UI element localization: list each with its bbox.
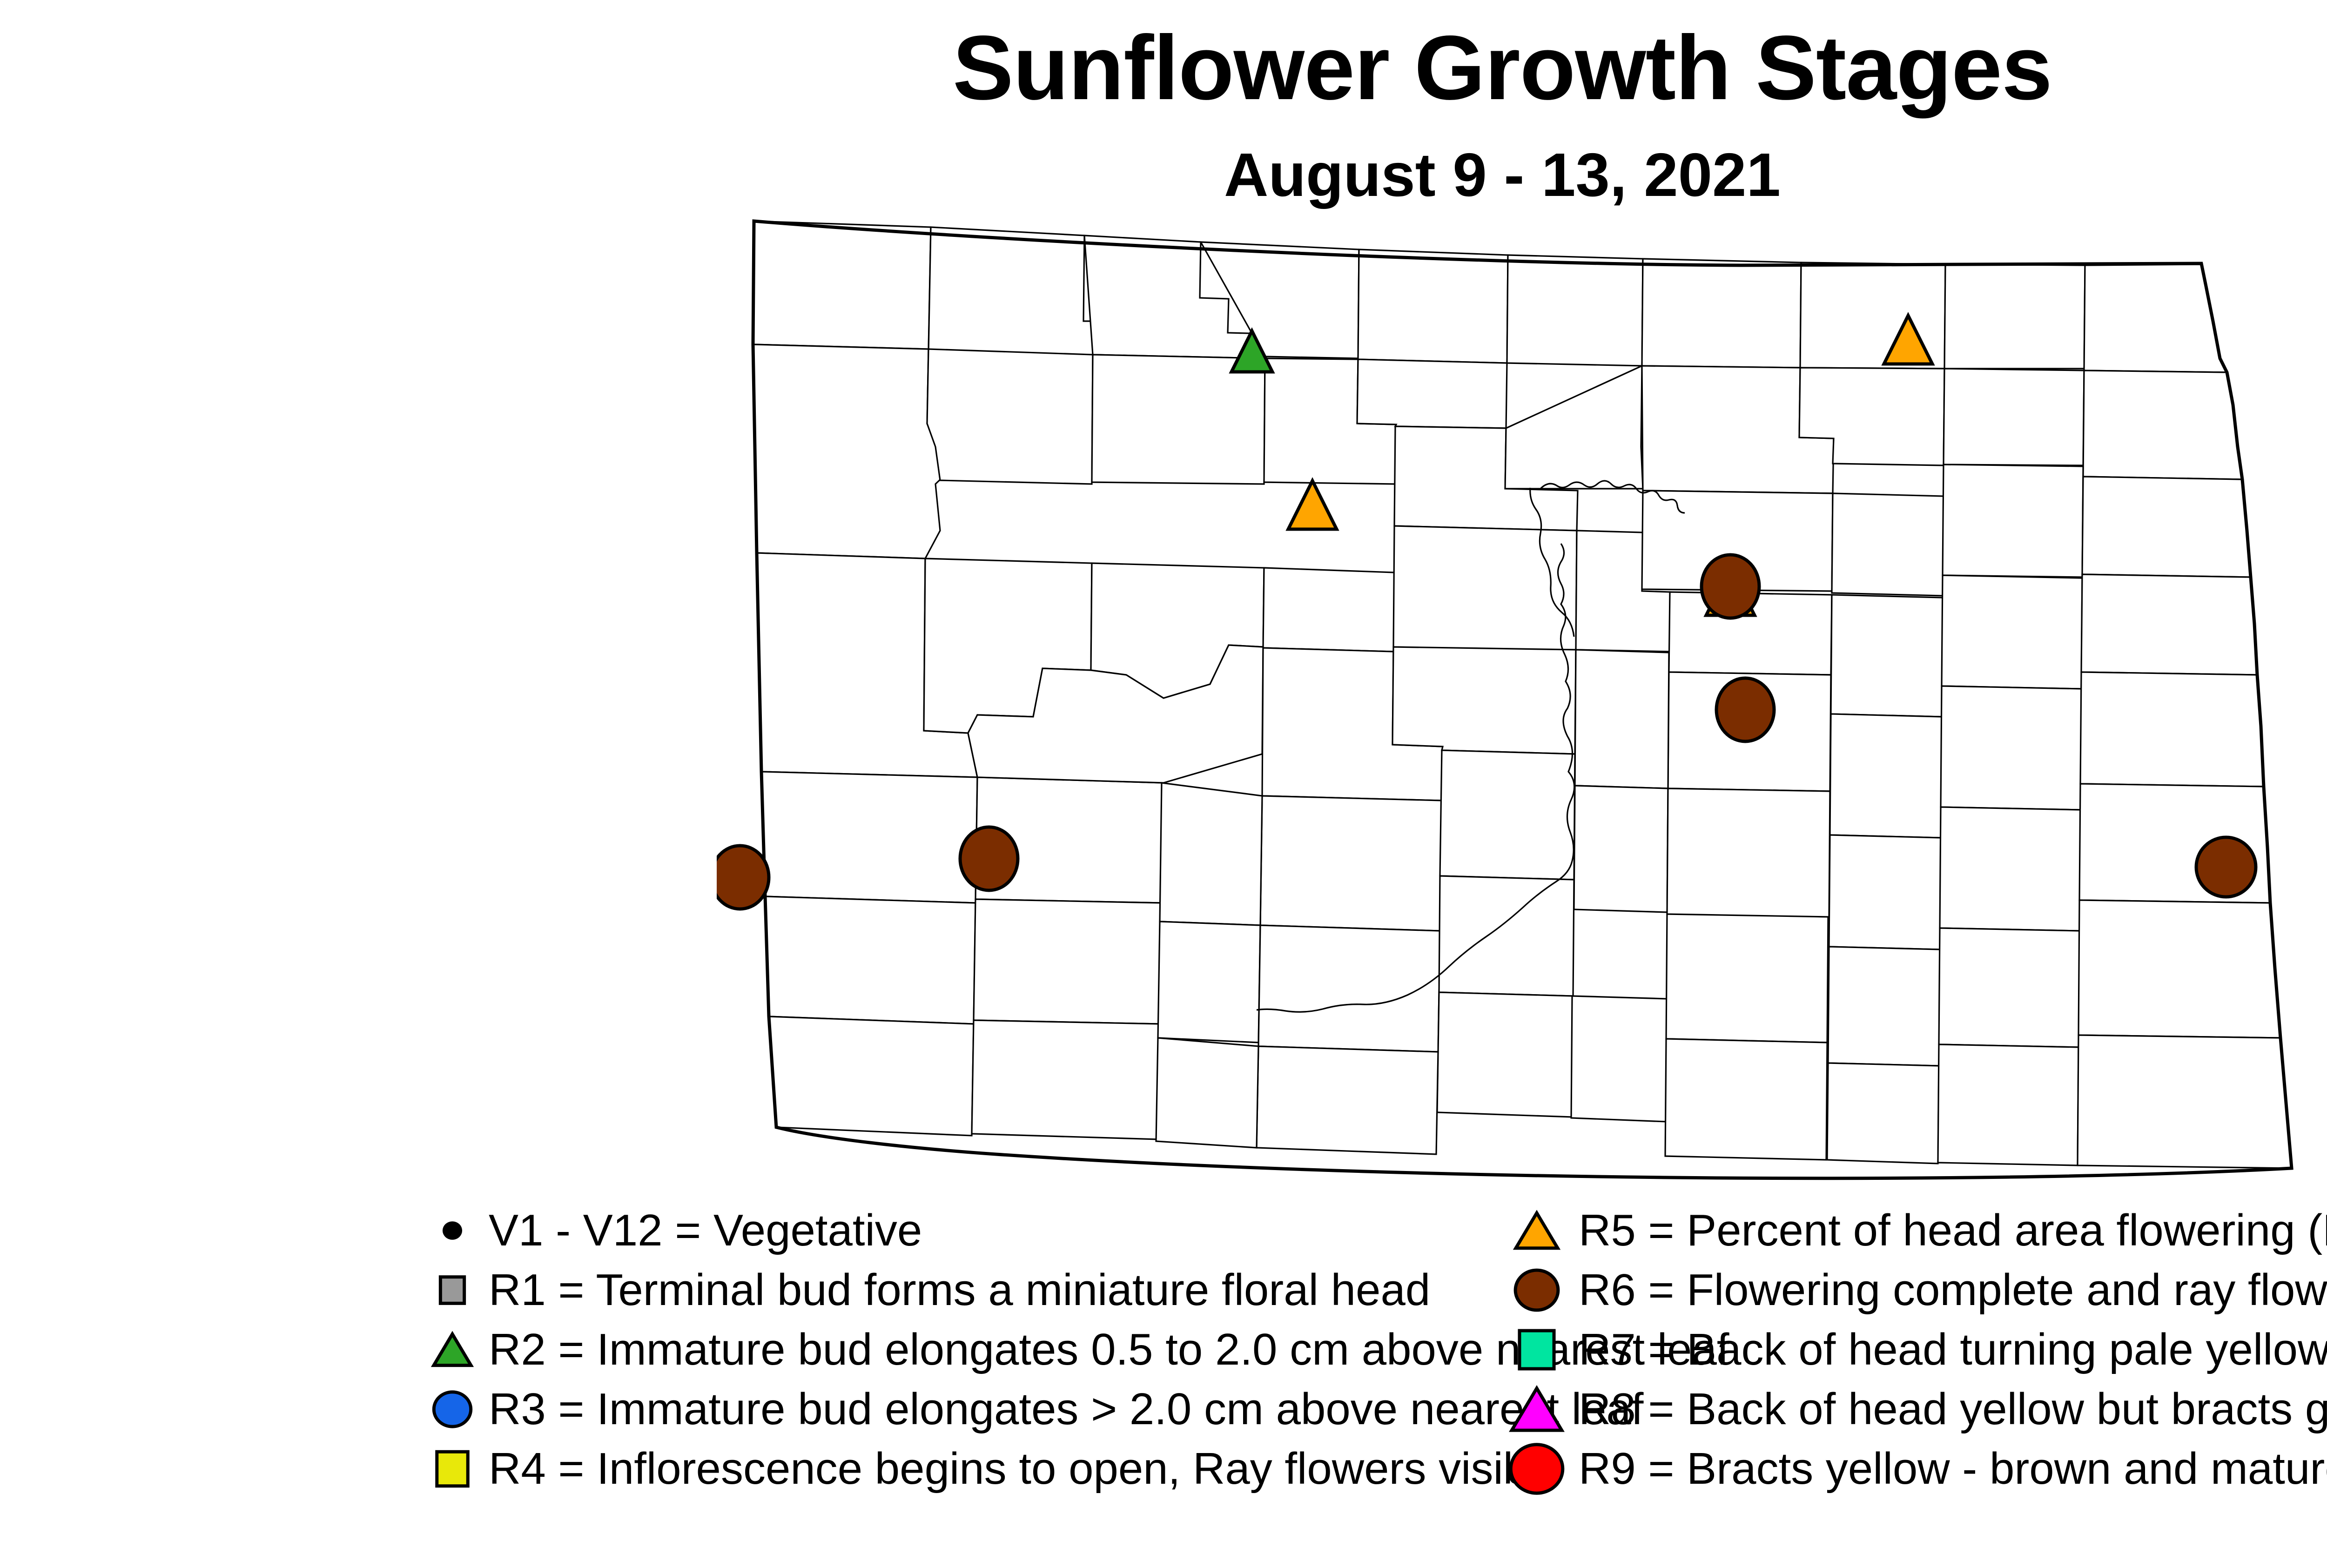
legend-label-r9: R9 = Bracts yellow - brown and mature xyxy=(1579,1439,2327,1499)
legend-item-r4: R4 = Inflorescence begins to open, Ray f… xyxy=(428,1439,1499,1499)
marker-r6-circle xyxy=(1702,555,1759,618)
legend-marker-r9-icon xyxy=(1513,1439,1568,1499)
legend-marker-circle xyxy=(1511,1445,1563,1493)
legend-item-r5: R5 = Percent of head area flowering (Ex:… xyxy=(1513,1201,2327,1260)
legend-marker-r8-icon xyxy=(1513,1380,1568,1439)
legend-marker-circle xyxy=(443,1221,462,1239)
legend-marker-r1-icon xyxy=(428,1260,484,1320)
legend-marker-square xyxy=(440,1277,464,1304)
legend-marker-r7-icon xyxy=(1513,1320,1568,1380)
legend-marker-r6-icon xyxy=(1513,1260,1568,1320)
legend-label-r8: R8 = Back of head yellow but bracts gree… xyxy=(1579,1380,2327,1439)
legend-item-r6: R6 = Flowering complete and ray flowers … xyxy=(1513,1260,2327,1320)
legend-item-r8: R8 = Back of head yellow but bracts gree… xyxy=(1513,1380,2327,1439)
legend-marker-square xyxy=(437,1452,468,1486)
legend-marker-triangle xyxy=(1516,1213,1558,1248)
legend-label-r6: R6 = Flowering complete and ray flowers … xyxy=(1579,1260,2327,1320)
marker-r6-circle xyxy=(960,827,1018,890)
legend-item-r3: R3 = Immature bud elongates > 2.0 cm abo… xyxy=(428,1380,1499,1439)
legend-item-r1: R1 = Terminal bud forms a miniature flor… xyxy=(428,1260,1499,1320)
legend-marker-r4-icon xyxy=(428,1439,484,1499)
legend: V1 - V12 = VegetativeR1 = Terminal bud f… xyxy=(0,1201,2327,1536)
page-subtitle: August 9 - 13, 2021 xyxy=(0,144,2327,206)
legend-label-r7: R7 = Back of head turning pale yellow xyxy=(1579,1320,2327,1380)
legend-marker-triangle xyxy=(1512,1388,1562,1430)
legend-item-r2: R2 = Immature bud elongates 0.5 to 2.0 c… xyxy=(428,1320,1499,1380)
legend-label-v: V1 - V12 = Vegetative xyxy=(489,1201,922,1260)
legend-marker-r2-icon xyxy=(428,1320,484,1380)
page-title: Sunflower Growth Stages xyxy=(0,22,2327,114)
county-layer xyxy=(753,221,2292,1168)
legend-marker-circle xyxy=(1515,1270,1558,1310)
map-figure: Sunflower Growth Stages August 9 - 13, 2… xyxy=(0,0,2327,1568)
marker-r5-triangle xyxy=(1288,481,1337,529)
legend-marker-r3-icon xyxy=(428,1380,484,1439)
legend-label-r4: R4 = Inflorescence begins to open, Ray f… xyxy=(489,1439,1563,1499)
legend-column-right: R5 = Percent of head area flowering (Ex:… xyxy=(1513,1201,2327,1499)
legend-column-left: V1 - V12 = VegetativeR1 = Terminal bud f… xyxy=(428,1201,1499,1499)
marker-r6-circle xyxy=(717,846,769,909)
legend-item-v: V1 - V12 = Vegetative xyxy=(428,1201,1499,1260)
legend-item-r9: R9 = Bracts yellow - brown and mature xyxy=(1513,1439,2327,1499)
north-dakota-map xyxy=(717,205,2327,1201)
legend-label-r5: R5 = Percent of head area flowering (Ex:… xyxy=(1579,1201,2327,1260)
legend-marker-circle xyxy=(434,1392,471,1427)
marker-r6-circle xyxy=(2196,837,2256,897)
legend-marker-r5-icon xyxy=(1513,1201,1568,1260)
legend-marker-v-icon xyxy=(428,1201,484,1260)
legend-marker-square xyxy=(1520,1331,1554,1369)
legend-label-r1: R1 = Terminal bud forms a miniature flor… xyxy=(489,1260,1430,1320)
marker-r6-circle xyxy=(1716,678,1774,741)
legend-item-r7: R7 = Back of head turning pale yellow xyxy=(1513,1320,2327,1380)
legend-label-r3: R3 = Immature bud elongates > 2.0 cm abo… xyxy=(489,1380,1643,1439)
legend-marker-triangle xyxy=(434,1334,471,1365)
